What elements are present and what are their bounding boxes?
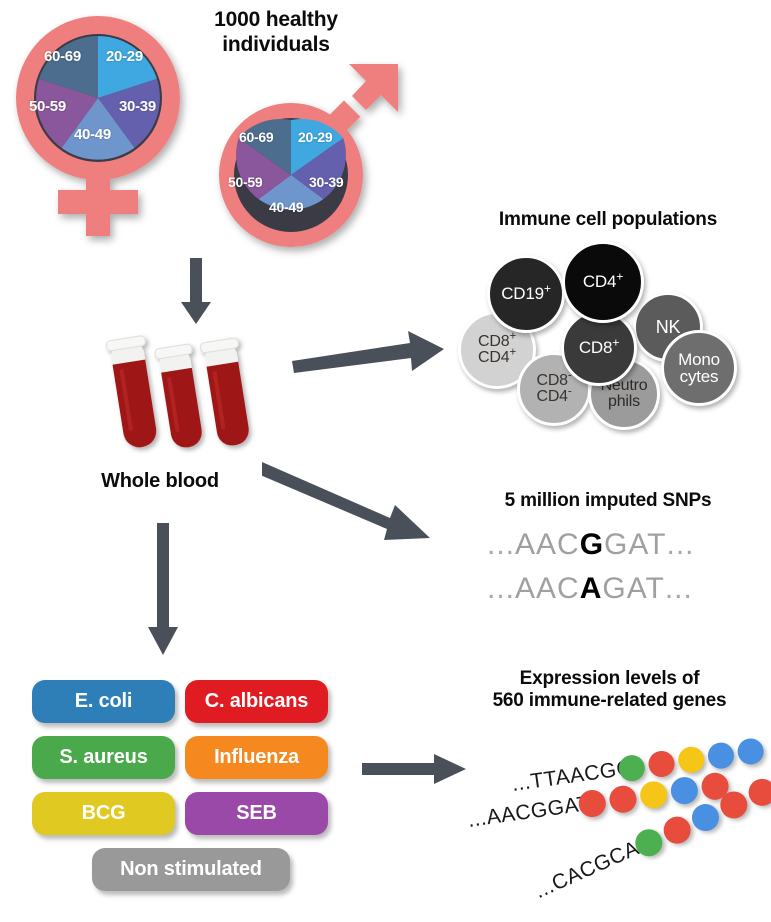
stimulus-influenza[interactable]: Influenza	[185, 736, 328, 779]
stimulus-c-albicans[interactable]: C. albicans	[185, 680, 328, 723]
immune-cell-cd8neg-cd4neg: CD8- CD4-	[517, 352, 591, 426]
male-symbol-shape	[208, 62, 408, 262]
stimulus-non-stimulated[interactable]: Non stimulated	[92, 848, 290, 891]
gene-bead	[638, 780, 668, 810]
pie-label-20-29: 20-29	[298, 129, 332, 145]
pie-label-20-29: 20-29	[106, 48, 143, 65]
stimulus-e-coli[interactable]: E. coli	[32, 680, 175, 723]
gene-expression-title-line2: 560 immune-related genes	[452, 690, 767, 712]
immune-cell-label: Mono	[678, 351, 720, 368]
arrow-blood-to-immune-cells	[292, 325, 447, 375]
gene-bead	[659, 812, 695, 848]
immune-cell-label: NK	[656, 318, 681, 336]
snp-bases-post: GAT	[604, 528, 666, 562]
immune-cell-cd4: CD4+	[562, 241, 644, 323]
immune-cell-label: CD19+	[501, 285, 551, 302]
gene-strand-sequence: ...AACGGAT	[466, 792, 592, 833]
pie-label-50-59: 50-59	[228, 174, 262, 190]
immune-cell-neutrophils: Neutro phils	[588, 358, 660, 430]
immune-cell-nk: NK	[633, 292, 703, 362]
snp-highlight-base: A	[580, 572, 603, 606]
pie-label-40-49: 40-49	[269, 199, 303, 215]
immune-cell-label-2: CD4-	[536, 389, 571, 405]
stimulus-s-aureus[interactable]: S. aureus	[32, 736, 175, 779]
immune-cell-cd19: CD19+	[487, 255, 565, 333]
gene-bead	[706, 741, 735, 770]
pie-label-40-49: 40-49	[74, 126, 111, 143]
stimulus-label: Influenza	[214, 746, 299, 769]
stimulus-label: E. coli	[75, 690, 133, 713]
gene-expression-title-line1: Expression levels of	[452, 668, 767, 690]
stimulus-label: Non stimulated	[120, 858, 262, 881]
male-symbol: 20-29 30-39 40-49 50-59 60-69	[208, 62, 408, 262]
arrow-blood-to-snps	[262, 456, 432, 544]
snp-sequence-row-1: ...AACGGAT...	[487, 528, 695, 562]
pie-label-30-39: 30-39	[309, 174, 343, 190]
immune-cell-monocytes: Mono cytes	[661, 330, 737, 406]
gene-expression-title: Expression levels of 560 immune-related …	[452, 668, 767, 713]
snp-bases-pre: AAC	[515, 528, 580, 562]
gene-bead	[608, 784, 638, 814]
immune-cell-label: CD8+	[579, 339, 619, 356]
pie-label-60-69: 60-69	[44, 48, 81, 65]
stimulus-label: BCG	[82, 802, 126, 825]
immune-cell-label: Neutro	[601, 378, 648, 394]
pie-label-50-59: 50-59	[29, 98, 66, 115]
female-symbol: 20-29 30-39 40-49 50-59 60-69	[8, 8, 198, 248]
snps-title: 5 million imputed SNPs	[463, 490, 753, 512]
cohort-title-line2: individuals	[176, 33, 376, 58]
pie-label-60-69: 60-69	[239, 129, 273, 145]
blood-tubes-shape	[100, 332, 265, 464]
stimulus-label: SEB	[236, 802, 277, 825]
snp-highlight-base: G	[580, 528, 604, 562]
stimulus-bcg[interactable]: BCG	[32, 792, 175, 835]
stimulus-label: S. aureus	[59, 746, 147, 769]
gene-bead	[647, 749, 676, 778]
gene-bead	[744, 775, 771, 811]
snp-prefix: ...	[487, 528, 515, 562]
immune-cell-label-2: phils	[608, 394, 640, 410]
arrow-blood-to-stimuli	[143, 523, 183, 655]
snp-bases-pre: AAC	[515, 572, 580, 606]
arrow-cohort-to-blood	[176, 258, 216, 324]
snp-prefix: ...	[487, 572, 515, 606]
immune-cell-label: CD8-	[536, 373, 571, 389]
cohort-title: 1000 healthy individuals	[176, 8, 376, 58]
pie-label-30-39: 30-39	[119, 98, 156, 115]
snp-sequence-row-2: ...AACAGAT...	[487, 572, 693, 606]
snp-suffix: ...	[665, 572, 693, 606]
immune-cell-label: CD4+	[583, 273, 623, 290]
figure-canvas: 1000 healthy individuals	[0, 0, 771, 922]
gene-bead	[677, 745, 706, 774]
snp-suffix: ...	[667, 528, 695, 562]
immune-cell-populations-title: Immune cell populations	[453, 209, 763, 231]
snp-bases-post: GAT	[602, 572, 664, 606]
gene-bead	[736, 737, 765, 766]
immune-cell-cd8pos-cd4pos: CD8+ CD4+	[458, 311, 536, 389]
gene-bead	[669, 775, 699, 805]
arrow-stimuli-to-genes	[362, 752, 468, 786]
gene-bead	[688, 800, 724, 836]
stimulus-seb[interactable]: SEB	[185, 792, 328, 835]
immune-cell-cd8: CD8+	[561, 310, 637, 386]
immune-cell-label-2: CD4+	[478, 350, 516, 366]
whole-blood-label: Whole blood	[82, 470, 238, 494]
blood-tubes	[100, 332, 260, 462]
immune-cell-label: CD8+	[478, 334, 516, 350]
stimulus-label: C. albicans	[205, 690, 308, 713]
cohort-title-line1: 1000 healthy	[176, 8, 376, 33]
immune-cell-label-2: cytes	[680, 368, 719, 385]
